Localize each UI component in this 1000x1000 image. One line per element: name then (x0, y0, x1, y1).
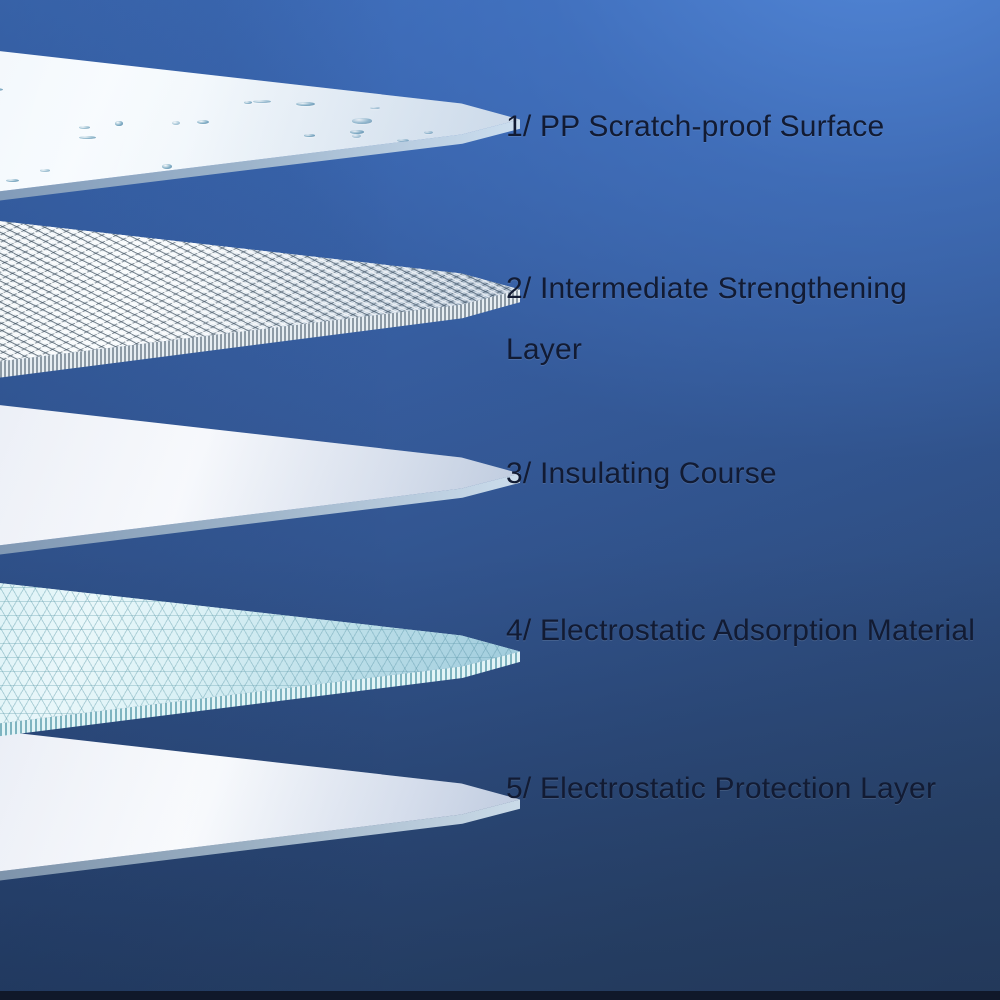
water-droplet (352, 134, 361, 138)
water-droplet (370, 107, 380, 110)
water-droplet (352, 118, 373, 123)
water-droplet (172, 121, 180, 125)
diagram-canvas: 1/ PP Scratch-proof Surface 2/ Intermedi… (0, 0, 1000, 1000)
water-droplet (6, 179, 19, 182)
water-droplet (296, 102, 315, 106)
layer-label-2: 2/ Intermediate Strengthening Layer (506, 258, 907, 380)
water-droplet (244, 101, 253, 104)
layer-label-3: 3/ Insulating Course (506, 443, 777, 504)
layer-label-4: 4/ Electrostatic Adsorption Material (506, 600, 975, 661)
layer-label-1: 1/ PP Scratch-proof Surface (506, 96, 884, 157)
water-droplet (304, 134, 315, 137)
water-droplet (40, 169, 50, 172)
water-droplet (253, 100, 271, 103)
water-droplet (79, 126, 90, 129)
water-droplets-group (0, 8, 520, 238)
water-droplet (424, 131, 433, 134)
layer-panel-1-pp-scratch-proof (0, 8, 520, 238)
water-droplet (197, 120, 209, 124)
water-droplet (79, 136, 97, 140)
water-droplet (0, 88, 3, 91)
water-droplet (115, 121, 122, 126)
layer-label-5: 5/ Electrostatic Protection Layer (506, 758, 936, 819)
water-droplet (162, 164, 172, 169)
bottom-dark-band (0, 991, 1000, 1000)
